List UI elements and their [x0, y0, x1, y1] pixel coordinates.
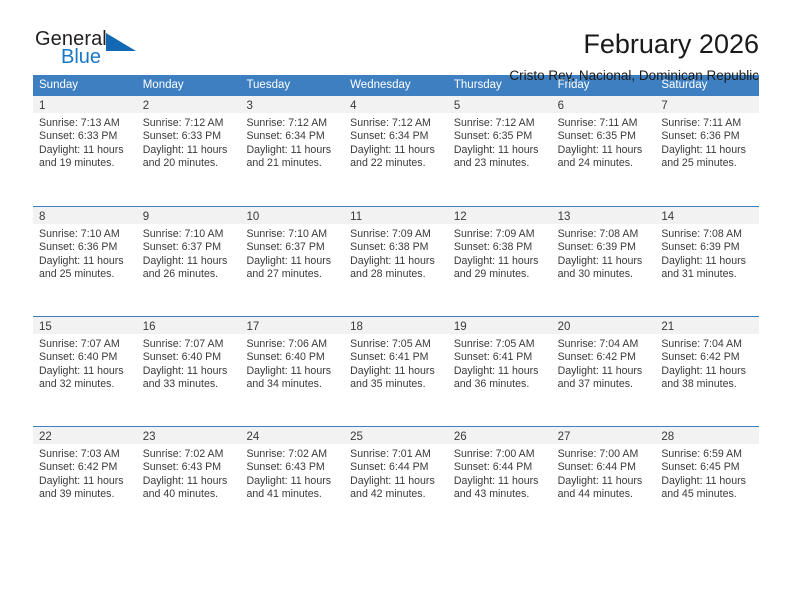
- sunset-text: Sunset: 6:44 PM: [454, 461, 546, 474]
- sunset-text: Sunset: 6:43 PM: [143, 461, 235, 474]
- sunrise-text: Sunrise: 7:12 AM: [246, 117, 338, 130]
- day-details: Sunrise: 7:00 AM Sunset: 6:44 PM Dayligh…: [448, 444, 552, 502]
- day-number: 7: [661, 100, 667, 112]
- daylight-text-line2: and 35 minutes.: [350, 378, 442, 391]
- day-details: Sunrise: 7:11 AM Sunset: 6:35 PM Dayligh…: [552, 113, 656, 171]
- daylight-text-line1: Daylight: 11 hours: [143, 255, 235, 268]
- daylight-text-line1: Daylight: 11 hours: [350, 365, 442, 378]
- sunset-text: Sunset: 6:42 PM: [661, 351, 753, 364]
- day-number-bar: 1: [33, 96, 137, 113]
- day-cell[interactable]: 10 Sunrise: 7:10 AM Sunset: 6:37 PM Dayl…: [240, 207, 344, 316]
- day-number: 15: [39, 321, 52, 333]
- daylight-text-line1: Daylight: 11 hours: [143, 365, 235, 378]
- day-number-bar: 4: [344, 96, 448, 113]
- daylight-text-line2: and 30 minutes.: [558, 268, 650, 281]
- daylight-text-line1: Daylight: 11 hours: [661, 255, 753, 268]
- daylight-text-line1: Daylight: 11 hours: [39, 475, 131, 488]
- week-row: 8 Sunrise: 7:10 AM Sunset: 6:36 PM Dayli…: [33, 206, 759, 316]
- week-row: 1 Sunrise: 7:13 AM Sunset: 6:33 PM Dayli…: [33, 96, 759, 206]
- day-number: 12: [454, 211, 467, 223]
- sunrise-text: Sunrise: 7:07 AM: [39, 338, 131, 351]
- sunset-text: Sunset: 6:40 PM: [39, 351, 131, 364]
- sunset-text: Sunset: 6:44 PM: [558, 461, 650, 474]
- sunrise-text: Sunrise: 7:00 AM: [454, 448, 546, 461]
- daylight-text-line1: Daylight: 11 hours: [246, 144, 338, 157]
- day-number: 26: [454, 431, 467, 443]
- sunrise-text: Sunrise: 7:02 AM: [143, 448, 235, 461]
- weekday-header-row: Sunday Monday Tuesday Wednesday Thursday…: [33, 75, 759, 96]
- daylight-text-line1: Daylight: 11 hours: [350, 144, 442, 157]
- day-number: 16: [143, 321, 156, 333]
- weekday-header-sunday: Sunday: [33, 75, 137, 96]
- sunrise-text: Sunrise: 7:05 AM: [454, 338, 546, 351]
- sunset-text: Sunset: 6:41 PM: [454, 351, 546, 364]
- sunrise-text: Sunrise: 6:59 AM: [661, 448, 753, 461]
- day-number-bar: 16: [137, 317, 241, 334]
- daylight-text-line2: and 33 minutes.: [143, 378, 235, 391]
- day-details: Sunrise: 7:11 AM Sunset: 6:36 PM Dayligh…: [655, 113, 759, 171]
- logo-word-blue: Blue: [61, 46, 101, 69]
- sunrise-text: Sunrise: 7:10 AM: [143, 228, 235, 241]
- sunset-text: Sunset: 6:34 PM: [350, 130, 442, 143]
- day-details: Sunrise: 6:59 AM Sunset: 6:45 PM Dayligh…: [655, 444, 759, 502]
- day-number-bar: 13: [552, 207, 656, 224]
- sunrise-text: Sunrise: 7:08 AM: [558, 228, 650, 241]
- day-number-bar: 7: [655, 96, 759, 113]
- day-number: 25: [350, 431, 363, 443]
- day-details: Sunrise: 7:02 AM Sunset: 6:43 PM Dayligh…: [137, 444, 241, 502]
- day-number-bar: 11: [344, 207, 448, 224]
- day-number: 1: [39, 100, 45, 112]
- daylight-text-line1: Daylight: 11 hours: [246, 255, 338, 268]
- daylight-text-line2: and 27 minutes.: [246, 268, 338, 281]
- daylight-text-line1: Daylight: 11 hours: [39, 144, 131, 157]
- day-cell[interactable]: 19 Sunrise: 7:05 AM Sunset: 6:41 PM Dayl…: [448, 317, 552, 426]
- day-number-bar: 26: [448, 427, 552, 444]
- sunrise-text: Sunrise: 7:02 AM: [246, 448, 338, 461]
- day-cell[interactable]: 16 Sunrise: 7:07 AM Sunset: 6:40 PM Dayl…: [137, 317, 241, 426]
- day-number-bar: 25: [344, 427, 448, 444]
- calendar-grid: Sunday Monday Tuesday Wednesday Thursday…: [33, 75, 759, 536]
- daylight-text-line2: and 44 minutes.: [558, 488, 650, 501]
- day-cell[interactable]: 12 Sunrise: 7:09 AM Sunset: 6:38 PM Dayl…: [448, 207, 552, 316]
- sunset-text: Sunset: 6:41 PM: [350, 351, 442, 364]
- day-number: 6: [558, 100, 564, 112]
- daylight-text-line2: and 29 minutes.: [454, 268, 546, 281]
- day-details: Sunrise: 7:12 AM Sunset: 6:33 PM Dayligh…: [137, 113, 241, 171]
- daylight-text-line1: Daylight: 11 hours: [39, 255, 131, 268]
- day-details: Sunrise: 7:09 AM Sunset: 6:38 PM Dayligh…: [344, 224, 448, 282]
- day-cell[interactable]: 9 Sunrise: 7:10 AM Sunset: 6:37 PM Dayli…: [137, 207, 241, 316]
- day-details: Sunrise: 7:10 AM Sunset: 6:37 PM Dayligh…: [240, 224, 344, 282]
- sunrise-text: Sunrise: 7:11 AM: [661, 117, 753, 130]
- sunset-text: Sunset: 6:34 PM: [246, 130, 338, 143]
- daylight-text-line2: and 38 minutes.: [661, 378, 753, 391]
- daylight-text-line1: Daylight: 11 hours: [558, 144, 650, 157]
- weekday-header-thursday: Thursday: [448, 75, 552, 96]
- sunset-text: Sunset: 6:36 PM: [661, 130, 753, 143]
- day-number: 9: [143, 211, 149, 223]
- day-number: 22: [39, 431, 52, 443]
- day-number-bar: 18: [344, 317, 448, 334]
- day-cell[interactable]: 24 Sunrise: 7:02 AM Sunset: 6:43 PM Dayl…: [240, 427, 344, 536]
- sunrise-text: Sunrise: 7:07 AM: [143, 338, 235, 351]
- daylight-text-line2: and 31 minutes.: [661, 268, 753, 281]
- general-blue-logo[interactable]: General Blue: [33, 28, 149, 74]
- day-details: Sunrise: 7:05 AM Sunset: 6:41 PM Dayligh…: [344, 334, 448, 392]
- sunset-text: Sunset: 6:35 PM: [558, 130, 650, 143]
- day-number: 8: [39, 211, 45, 223]
- daylight-text-line1: Daylight: 11 hours: [454, 255, 546, 268]
- day-details: Sunrise: 7:04 AM Sunset: 6:42 PM Dayligh…: [655, 334, 759, 392]
- sunrise-text: Sunrise: 7:10 AM: [246, 228, 338, 241]
- day-number-bar: 10: [240, 207, 344, 224]
- day-number-bar: 19: [448, 317, 552, 334]
- sunset-text: Sunset: 6:38 PM: [454, 241, 546, 254]
- weekday-header-tuesday: Tuesday: [240, 75, 344, 96]
- day-number-bar: 27: [552, 427, 656, 444]
- sunrise-text: Sunrise: 7:04 AM: [558, 338, 650, 351]
- sunrise-text: Sunrise: 7:06 AM: [246, 338, 338, 351]
- day-number: 2: [143, 100, 149, 112]
- sunset-text: Sunset: 6:38 PM: [350, 241, 442, 254]
- weekday-header-saturday: Saturday: [655, 75, 759, 96]
- day-number: 28: [661, 431, 674, 443]
- day-number-bar: 2: [137, 96, 241, 113]
- day-cell[interactable]: 2 Sunrise: 7:12 AM Sunset: 6:33 PM Dayli…: [137, 96, 241, 206]
- sunset-text: Sunset: 6:33 PM: [143, 130, 235, 143]
- sunrise-text: Sunrise: 7:09 AM: [350, 228, 442, 241]
- sunrise-text: Sunrise: 7:11 AM: [558, 117, 650, 130]
- sunset-text: Sunset: 6:35 PM: [454, 130, 546, 143]
- daylight-text-line1: Daylight: 11 hours: [143, 144, 235, 157]
- day-details: Sunrise: 7:12 AM Sunset: 6:34 PM Dayligh…: [240, 113, 344, 171]
- sunset-text: Sunset: 6:39 PM: [661, 241, 753, 254]
- day-number-bar: 6: [552, 96, 656, 113]
- day-details: Sunrise: 7:01 AM Sunset: 6:44 PM Dayligh…: [344, 444, 448, 502]
- day-cell[interactable]: 23 Sunrise: 7:02 AM Sunset: 6:43 PM Dayl…: [137, 427, 241, 536]
- week-row: 22 Sunrise: 7:03 AM Sunset: 6:42 PM Dayl…: [33, 426, 759, 536]
- daylight-text-line2: and 34 minutes.: [246, 378, 338, 391]
- day-cell[interactable]: 13 Sunrise: 7:08 AM Sunset: 6:39 PM Dayl…: [552, 207, 656, 316]
- day-number-bar: 15: [33, 317, 137, 334]
- day-number-bar: 28: [655, 427, 759, 444]
- day-number-bar: 8: [33, 207, 137, 224]
- day-details: Sunrise: 7:08 AM Sunset: 6:39 PM Dayligh…: [552, 224, 656, 282]
- day-cell[interactable]: 18 Sunrise: 7:05 AM Sunset: 6:41 PM Dayl…: [344, 317, 448, 426]
- daylight-text-line1: Daylight: 11 hours: [454, 144, 546, 157]
- day-cell[interactable]: 8 Sunrise: 7:10 AM Sunset: 6:36 PM Dayli…: [33, 207, 137, 316]
- daylight-text-line1: Daylight: 11 hours: [661, 144, 753, 157]
- day-number: 14: [661, 211, 674, 223]
- daylight-text-line2: and 45 minutes.: [661, 488, 753, 501]
- daylight-text-line2: and 19 minutes.: [39, 157, 131, 170]
- day-number: 27: [558, 431, 571, 443]
- sunset-text: Sunset: 6:45 PM: [661, 461, 753, 474]
- day-details: Sunrise: 7:13 AM Sunset: 6:33 PM Dayligh…: [33, 113, 137, 171]
- day-number: 23: [143, 431, 156, 443]
- daylight-text-line2: and 24 minutes.: [558, 157, 650, 170]
- daylight-text-line2: and 41 minutes.: [246, 488, 338, 501]
- day-cell[interactable]: 1 Sunrise: 7:13 AM Sunset: 6:33 PM Dayli…: [33, 96, 137, 206]
- sunrise-text: Sunrise: 7:00 AM: [558, 448, 650, 461]
- day-number-bar: 20: [552, 317, 656, 334]
- day-details: Sunrise: 7:09 AM Sunset: 6:38 PM Dayligh…: [448, 224, 552, 282]
- daylight-text-line1: Daylight: 11 hours: [661, 475, 753, 488]
- sunset-text: Sunset: 6:37 PM: [246, 241, 338, 254]
- day-cell[interactable]: 25 Sunrise: 7:01 AM Sunset: 6:44 PM Dayl…: [344, 427, 448, 536]
- day-number: 21: [661, 321, 674, 333]
- sunrise-text: Sunrise: 7:12 AM: [350, 117, 442, 130]
- daylight-text-line1: Daylight: 11 hours: [246, 475, 338, 488]
- day-details: Sunrise: 7:12 AM Sunset: 6:34 PM Dayligh…: [344, 113, 448, 171]
- daylight-text-line1: Daylight: 11 hours: [350, 255, 442, 268]
- daylight-text-line2: and 22 minutes.: [350, 157, 442, 170]
- day-number-bar: 17: [240, 317, 344, 334]
- daylight-text-line2: and 40 minutes.: [143, 488, 235, 501]
- day-number: 17: [246, 321, 259, 333]
- day-number: 19: [454, 321, 467, 333]
- day-cell[interactable]: 22 Sunrise: 7:03 AM Sunset: 6:42 PM Dayl…: [33, 427, 137, 536]
- sunrise-text: Sunrise: 7:01 AM: [350, 448, 442, 461]
- day-number-bar: 9: [137, 207, 241, 224]
- day-number: 24: [246, 431, 259, 443]
- daylight-text-line2: and 28 minutes.: [350, 268, 442, 281]
- sunset-text: Sunset: 6:36 PM: [39, 241, 131, 254]
- day-details: Sunrise: 7:00 AM Sunset: 6:44 PM Dayligh…: [552, 444, 656, 502]
- daylight-text-line2: and 23 minutes.: [454, 157, 546, 170]
- daylight-text-line1: Daylight: 11 hours: [454, 365, 546, 378]
- day-cell[interactable]: 15 Sunrise: 7:07 AM Sunset: 6:40 PM Dayl…: [33, 317, 137, 426]
- day-number-bar: 14: [655, 207, 759, 224]
- day-cell[interactable]: 7 Sunrise: 7:11 AM Sunset: 6:36 PM Dayli…: [655, 96, 759, 206]
- daylight-text-line2: and 42 minutes.: [350, 488, 442, 501]
- day-number-bar: 22: [33, 427, 137, 444]
- day-details: Sunrise: 7:07 AM Sunset: 6:40 PM Dayligh…: [33, 334, 137, 392]
- weekday-header-monday: Monday: [137, 75, 241, 96]
- day-number: 18: [350, 321, 363, 333]
- daylight-text-line2: and 25 minutes.: [39, 268, 131, 281]
- sunrise-text: Sunrise: 7:13 AM: [39, 117, 131, 130]
- day-cell[interactable]: 21 Sunrise: 7:04 AM Sunset: 6:42 PM Dayl…: [655, 317, 759, 426]
- daylight-text-line1: Daylight: 11 hours: [558, 255, 650, 268]
- day-cell[interactable]: 17 Sunrise: 7:06 AM Sunset: 6:40 PM Dayl…: [240, 317, 344, 426]
- sunset-text: Sunset: 6:40 PM: [246, 351, 338, 364]
- daylight-text-line2: and 39 minutes.: [39, 488, 131, 501]
- daylight-text-line1: Daylight: 11 hours: [246, 365, 338, 378]
- day-details: Sunrise: 7:10 AM Sunset: 6:36 PM Dayligh…: [33, 224, 137, 282]
- daylight-text-line1: Daylight: 11 hours: [661, 365, 753, 378]
- day-details: Sunrise: 7:10 AM Sunset: 6:37 PM Dayligh…: [137, 224, 241, 282]
- daylight-text-line2: and 37 minutes.: [558, 378, 650, 391]
- sunrise-text: Sunrise: 7:12 AM: [143, 117, 235, 130]
- sunrise-text: Sunrise: 7:05 AM: [350, 338, 442, 351]
- day-details: Sunrise: 7:07 AM Sunset: 6:40 PM Dayligh…: [137, 334, 241, 392]
- day-cell[interactable]: 4 Sunrise: 7:12 AM Sunset: 6:34 PM Dayli…: [344, 96, 448, 206]
- day-number-bar: 23: [137, 427, 241, 444]
- sunrise-text: Sunrise: 7:08 AM: [661, 228, 753, 241]
- sunset-text: Sunset: 6:39 PM: [558, 241, 650, 254]
- day-number-bar: 12: [448, 207, 552, 224]
- sunset-text: Sunset: 6:44 PM: [350, 461, 442, 474]
- daylight-text-line1: Daylight: 11 hours: [558, 475, 650, 488]
- day-cell[interactable]: 20 Sunrise: 7:04 AM Sunset: 6:42 PM Dayl…: [552, 317, 656, 426]
- daylight-text-line2: and 26 minutes.: [143, 268, 235, 281]
- sunrise-text: Sunrise: 7:10 AM: [39, 228, 131, 241]
- daylight-text-line1: Daylight: 11 hours: [350, 475, 442, 488]
- sunrise-text: Sunrise: 7:03 AM: [39, 448, 131, 461]
- daylight-text-line1: Daylight: 11 hours: [558, 365, 650, 378]
- sunset-text: Sunset: 6:37 PM: [143, 241, 235, 254]
- daylight-text-line1: Daylight: 11 hours: [39, 365, 131, 378]
- day-number: 11: [350, 211, 362, 223]
- day-details: Sunrise: 7:02 AM Sunset: 6:43 PM Dayligh…: [240, 444, 344, 502]
- sunrise-text: Sunrise: 7:04 AM: [661, 338, 753, 351]
- day-number: 10: [246, 211, 259, 223]
- daylight-text-line2: and 25 minutes.: [661, 157, 753, 170]
- calendar-page: General Blue February 2026 Cristo Rey, N…: [0, 0, 792, 612]
- day-details: Sunrise: 7:05 AM Sunset: 6:41 PM Dayligh…: [448, 334, 552, 392]
- sunrise-text: Sunrise: 7:09 AM: [454, 228, 546, 241]
- daylight-text-line2: and 32 minutes.: [39, 378, 131, 391]
- day-cell[interactable]: 3 Sunrise: 7:12 AM Sunset: 6:34 PM Dayli…: [240, 96, 344, 206]
- daylight-text-line1: Daylight: 11 hours: [143, 475, 235, 488]
- triangle-icon: [106, 33, 136, 51]
- day-number-bar: 3: [240, 96, 344, 113]
- page-header: General Blue February 2026 Cristo Rey, N…: [33, 0, 759, 62]
- weekday-header-friday: Friday: [552, 75, 656, 96]
- daylight-text-line2: and 20 minutes.: [143, 157, 235, 170]
- day-cell[interactable]: 14 Sunrise: 7:08 AM Sunset: 6:39 PM Dayl…: [655, 207, 759, 316]
- day-number: 13: [558, 211, 571, 223]
- day-details: Sunrise: 7:08 AM Sunset: 6:39 PM Dayligh…: [655, 224, 759, 282]
- day-cell[interactable]: 6 Sunrise: 7:11 AM Sunset: 6:35 PM Dayli…: [552, 96, 656, 206]
- page-title: February 2026: [509, 28, 759, 60]
- day-details: Sunrise: 7:04 AM Sunset: 6:42 PM Dayligh…: [552, 334, 656, 392]
- day-cell[interactable]: 11 Sunrise: 7:09 AM Sunset: 6:38 PM Dayl…: [344, 207, 448, 316]
- daylight-text-line1: Daylight: 11 hours: [454, 475, 546, 488]
- daylight-text-line2: and 36 minutes.: [454, 378, 546, 391]
- daylight-text-line2: and 43 minutes.: [454, 488, 546, 501]
- sunset-text: Sunset: 6:42 PM: [39, 461, 131, 474]
- day-number-bar: 21: [655, 317, 759, 334]
- day-details: Sunrise: 7:03 AM Sunset: 6:42 PM Dayligh…: [33, 444, 137, 502]
- day-number: 20: [558, 321, 571, 333]
- day-number: 3: [246, 100, 252, 112]
- day-cell[interactable]: 27 Sunrise: 7:00 AM Sunset: 6:44 PM Dayl…: [552, 427, 656, 536]
- day-details: Sunrise: 7:06 AM Sunset: 6:40 PM Dayligh…: [240, 334, 344, 392]
- day-number-bar: 24: [240, 427, 344, 444]
- sunset-text: Sunset: 6:42 PM: [558, 351, 650, 364]
- day-cell[interactable]: 26 Sunrise: 7:00 AM Sunset: 6:44 PM Dayl…: [448, 427, 552, 536]
- sunrise-text: Sunrise: 7:12 AM: [454, 117, 546, 130]
- sunset-text: Sunset: 6:40 PM: [143, 351, 235, 364]
- day-number: 5: [454, 100, 460, 112]
- day-number: 4: [350, 100, 356, 112]
- sunset-text: Sunset: 6:33 PM: [39, 130, 131, 143]
- day-cell[interactable]: 28 Sunrise: 6:59 AM Sunset: 6:45 PM Dayl…: [655, 427, 759, 536]
- day-number-bar: 5: [448, 96, 552, 113]
- weekday-header-wednesday: Wednesday: [344, 75, 448, 96]
- daylight-text-line2: and 21 minutes.: [246, 157, 338, 170]
- week-row: 15 Sunrise: 7:07 AM Sunset: 6:40 PM Dayl…: [33, 316, 759, 426]
- day-details: Sunrise: 7:12 AM Sunset: 6:35 PM Dayligh…: [448, 113, 552, 171]
- day-cell[interactable]: 5 Sunrise: 7:12 AM Sunset: 6:35 PM Dayli…: [448, 96, 552, 206]
- sunset-text: Sunset: 6:43 PM: [246, 461, 338, 474]
